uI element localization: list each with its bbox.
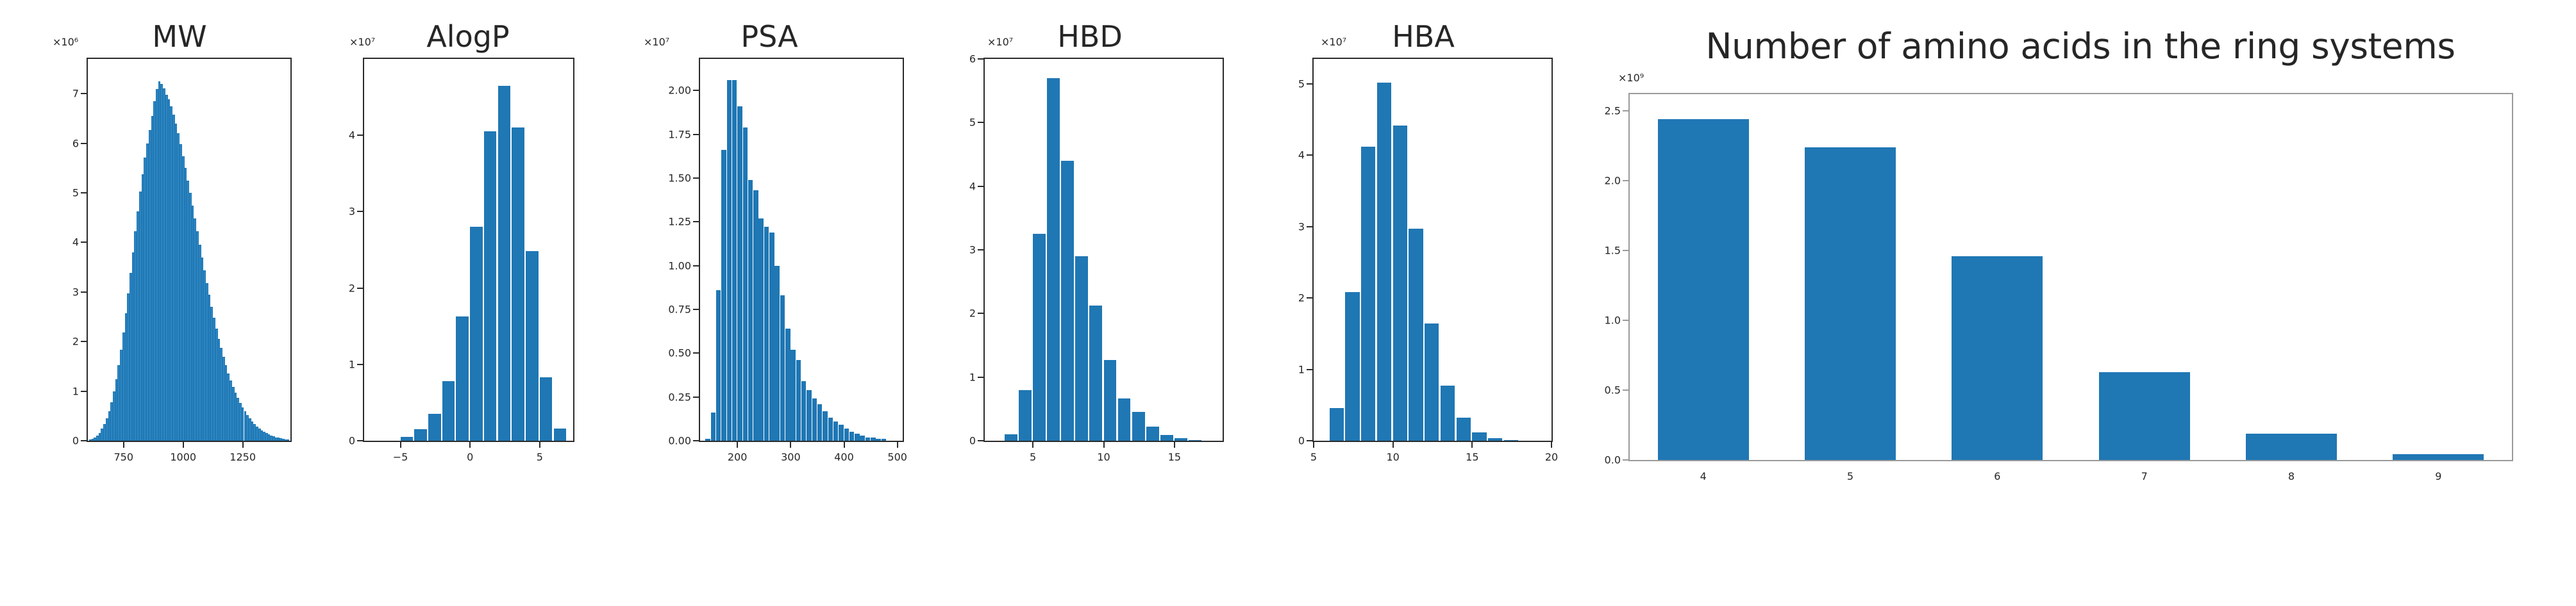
bar	[1089, 306, 1102, 441]
bars-hba	[1314, 59, 1551, 441]
x-tick-mark	[400, 441, 401, 448]
x-tick-mark	[1313, 441, 1314, 448]
axes-hbd: 012345651015	[983, 58, 1224, 442]
bar	[721, 150, 726, 441]
x-tick-label: 7	[2141, 460, 2148, 482]
bar	[470, 227, 483, 441]
y-tick-mark	[978, 440, 985, 441]
bar	[860, 436, 864, 441]
bar	[839, 425, 843, 441]
offset-text-hba: ×10⁷	[1321, 36, 1346, 48]
plot-area-hbd	[985, 59, 1223, 441]
y-tick-mark	[81, 391, 88, 392]
x-tick-mark	[539, 441, 540, 448]
bar	[817, 404, 822, 441]
bar	[1361, 147, 1375, 441]
y-tick-mark	[1623, 389, 1630, 391]
bar	[769, 233, 774, 441]
bar	[1805, 147, 1896, 460]
y-tick-mark	[1623, 250, 1630, 251]
bar	[807, 390, 811, 441]
bars-mw	[88, 59, 290, 441]
y-tick-mark	[357, 211, 364, 212]
bar	[1118, 398, 1131, 441]
axes-rings: 0.00.51.01.52.02.5456789	[1628, 93, 2513, 461]
plot-area-psa	[700, 59, 903, 441]
y-tick-mark	[81, 291, 88, 293]
offset-text-mw: ×10⁶	[53, 36, 78, 48]
bar	[855, 434, 859, 441]
offset-text-alogp: ×10⁷	[349, 36, 375, 48]
x-tick-label: 9	[2435, 460, 2441, 482]
y-tick-mark	[357, 440, 364, 441]
y-tick-mark	[978, 186, 985, 187]
bar	[484, 131, 497, 441]
bar	[1345, 292, 1359, 441]
offset-text-hbd: ×10⁷	[987, 36, 1013, 48]
bar	[1146, 427, 1159, 441]
bar	[498, 86, 511, 441]
panel-title-rings: Number of amino acids in the ring system…	[1616, 26, 2545, 67]
y-tick-mark	[693, 265, 700, 266]
bar	[711, 413, 715, 441]
bar	[849, 432, 854, 441]
x-tick-mark	[1393, 441, 1394, 448]
bar	[743, 127, 748, 441]
x-tick-label: 5	[1847, 460, 1853, 482]
y-tick-mark	[693, 177, 700, 179]
bar	[526, 251, 539, 441]
bar	[2246, 434, 2337, 460]
bar	[540, 377, 553, 441]
bar	[828, 418, 833, 441]
plot-area-alogp	[364, 59, 573, 441]
y-tick-mark	[1307, 226, 1314, 227]
bar	[1393, 126, 1407, 441]
bar	[780, 295, 785, 441]
bars-alogp	[364, 59, 573, 441]
y-tick-mark	[693, 397, 700, 398]
bar	[1033, 234, 1046, 441]
x-tick-mark	[1174, 441, 1175, 448]
x-tick-mark	[183, 441, 184, 448]
bars-rings	[1630, 94, 2512, 460]
bar	[774, 266, 779, 441]
bar	[456, 316, 469, 441]
y-tick-mark	[81, 93, 88, 94]
y-tick-mark	[357, 364, 364, 365]
y-tick-mark	[1307, 369, 1314, 370]
bar	[753, 190, 758, 441]
bar	[1160, 435, 1173, 441]
bar	[732, 80, 737, 441]
bar	[716, 290, 721, 441]
y-tick-mark	[1307, 297, 1314, 299]
bar	[1132, 412, 1145, 441]
bar	[812, 398, 817, 441]
bars-hbd	[985, 59, 1223, 441]
plot-area-mw	[88, 59, 290, 441]
bar	[287, 439, 289, 441]
bar	[1377, 83, 1391, 441]
bar	[1504, 440, 1518, 441]
y-tick-mark	[693, 440, 700, 441]
y-tick-mark	[1623, 320, 1630, 321]
y-tick-mark	[693, 90, 700, 91]
bar	[1488, 438, 1502, 441]
bar	[1441, 386, 1455, 441]
y-tick-mark	[693, 309, 700, 310]
bar	[442, 381, 455, 441]
plot-area-rings	[1630, 94, 2512, 460]
x-tick-mark	[1103, 441, 1105, 448]
bar	[1019, 390, 1032, 441]
y-tick-mark	[978, 377, 985, 378]
bar	[1457, 418, 1471, 441]
plot-area-hba	[1314, 59, 1551, 441]
axes-mw: 0123456775010001250	[87, 58, 292, 442]
x-tick-label: 4	[1700, 460, 1707, 482]
x-tick-label: 6	[1994, 460, 2000, 482]
x-tick-mark	[1551, 441, 1552, 448]
bar	[414, 429, 427, 441]
y-tick-mark	[693, 221, 700, 222]
panel-rings: Number of amino acids in the ring system…	[1616, 19, 2545, 96]
y-tick-mark	[81, 341, 88, 342]
y-tick-mark	[81, 242, 88, 243]
bar	[833, 422, 838, 441]
bar	[801, 381, 806, 441]
bar	[796, 360, 801, 441]
bar	[1330, 408, 1344, 441]
x-tick-mark	[737, 441, 738, 448]
y-tick-mark	[1623, 180, 1630, 181]
bar	[876, 439, 880, 441]
bar	[737, 106, 742, 441]
bar	[2099, 372, 2190, 460]
bar	[1409, 229, 1423, 441]
bar	[1061, 161, 1074, 441]
bars-psa	[700, 59, 903, 441]
y-tick-mark	[357, 288, 364, 289]
panel-title-mw: MW	[38, 19, 321, 54]
y-tick-mark	[357, 135, 364, 136]
bar	[1047, 78, 1060, 441]
y-tick-mark	[978, 249, 985, 250]
bar	[790, 350, 795, 441]
bar	[1952, 256, 2043, 460]
y-tick-mark	[693, 352, 700, 354]
bar	[882, 439, 886, 441]
y-tick-mark	[1623, 459, 1630, 461]
bar	[1104, 360, 1117, 441]
bar	[748, 180, 753, 441]
bar	[1189, 440, 1201, 441]
axes-alogp: 01234−505	[363, 58, 574, 442]
y-tick-mark	[978, 58, 985, 60]
bar	[823, 411, 827, 441]
x-tick-mark	[897, 441, 898, 448]
panel-title-psa: PSA	[628, 19, 910, 54]
bar	[554, 429, 567, 441]
x-tick-mark	[844, 441, 845, 448]
y-tick-mark	[81, 143, 88, 144]
figure-canvas: MW ×10⁶ 0123456775010001250 AlogP ×10⁷ 0…	[0, 0, 2576, 606]
y-tick-mark	[693, 134, 700, 135]
bar	[512, 127, 524, 441]
y-tick-mark	[1623, 110, 1630, 111]
x-tick-mark	[242, 441, 244, 448]
x-tick-mark	[790, 441, 791, 448]
y-tick-mark	[978, 122, 985, 123]
x-tick-mark	[1471, 441, 1473, 448]
bar	[785, 329, 790, 441]
axes-hba: 0123455101520	[1312, 58, 1553, 442]
y-tick-mark	[81, 440, 88, 441]
bar	[758, 218, 763, 441]
y-tick-mark	[978, 313, 985, 314]
x-tick-mark	[469, 441, 471, 448]
bar	[844, 429, 849, 441]
bar	[764, 227, 769, 441]
bar	[1075, 256, 1088, 441]
y-tick-mark	[1307, 83, 1314, 85]
x-tick-mark	[1032, 441, 1033, 448]
axes-psa: 0.000.250.500.751.001.251.501.752.002003…	[699, 58, 904, 442]
bar	[705, 439, 710, 441]
bar	[428, 414, 441, 441]
bar	[1658, 119, 1749, 460]
x-tick-label: 8	[2288, 460, 2295, 482]
x-tick-mark	[123, 441, 124, 448]
bar	[871, 438, 875, 441]
bar	[1425, 323, 1439, 441]
offset-text-rings: ×10⁹	[1618, 72, 1644, 84]
bar	[1472, 432, 1486, 441]
bar	[727, 80, 732, 441]
y-tick-mark	[81, 192, 88, 193]
offset-text-psa: ×10⁷	[644, 36, 669, 48]
bar	[1005, 434, 1017, 441]
bar	[2393, 454, 2484, 460]
y-tick-mark	[1307, 154, 1314, 156]
bar	[866, 438, 870, 441]
